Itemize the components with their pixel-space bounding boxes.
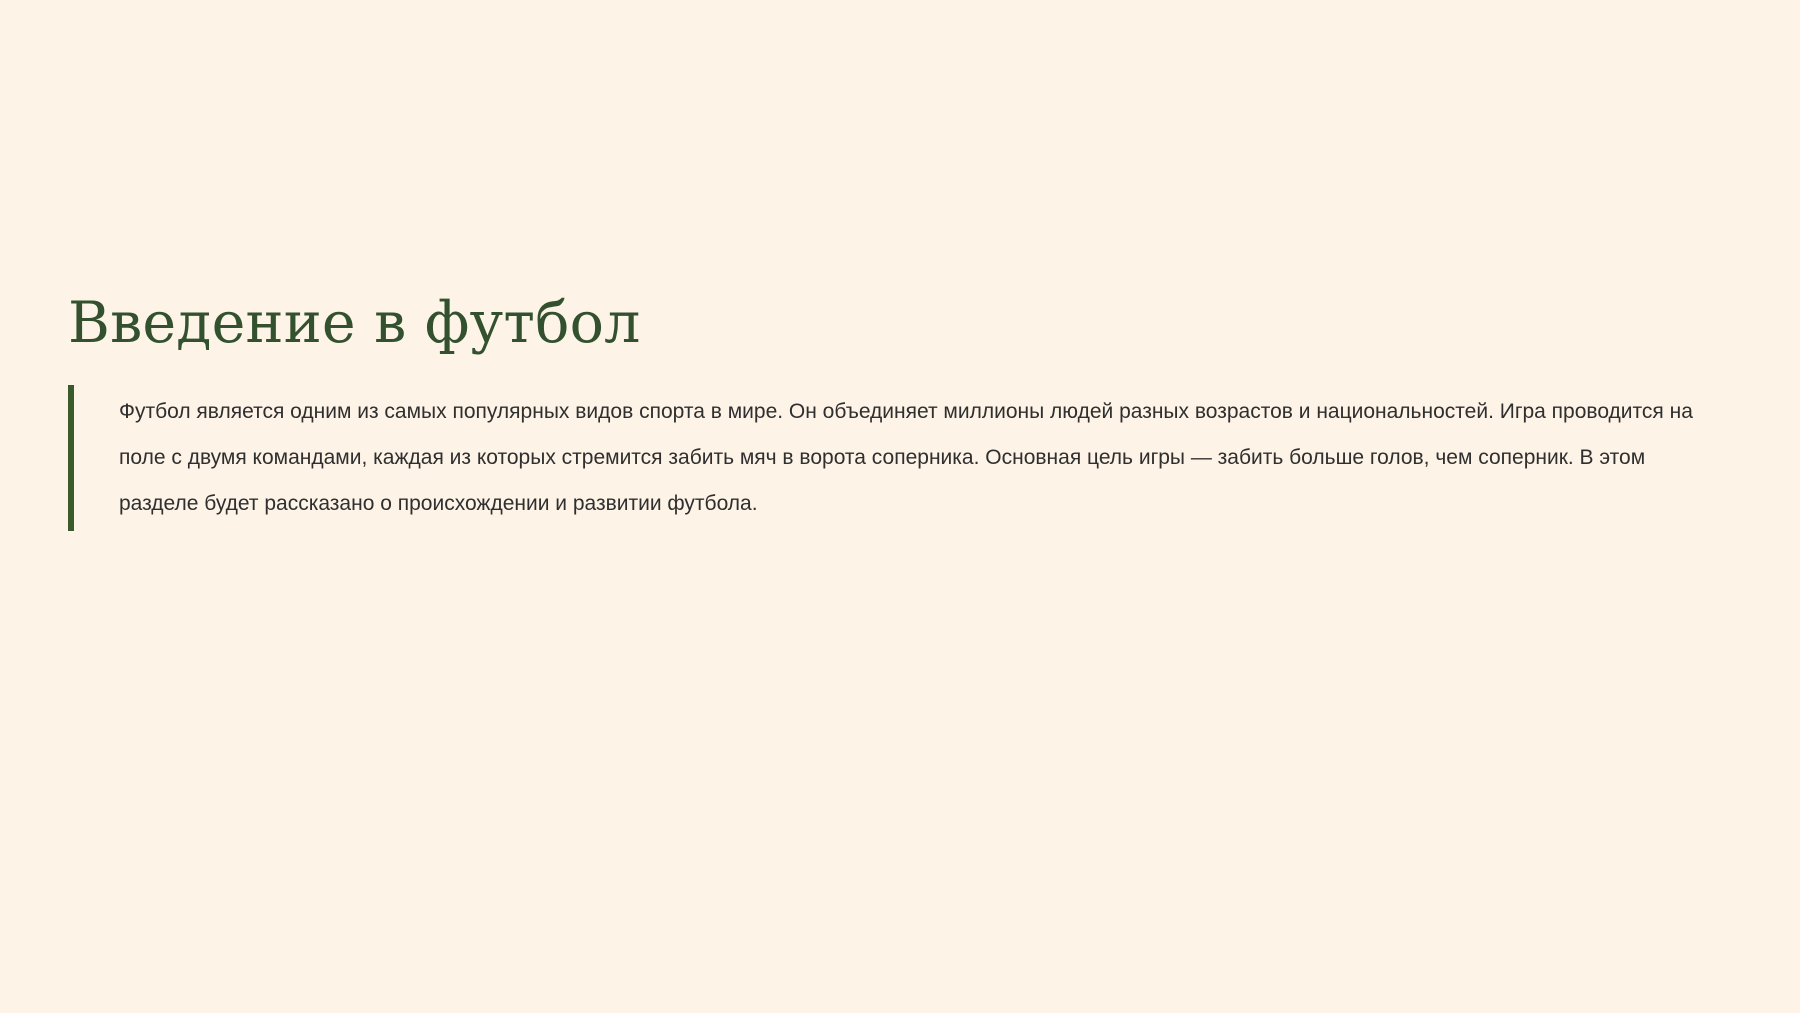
page-root: Введение в футбол Футбол является одним … <box>0 0 1800 1013</box>
page-title: Введение в футбол <box>68 290 1708 357</box>
intro-paragraph: Футбол является одним из самых популярны… <box>119 389 1708 527</box>
content-container: Введение в футбол Футбол является одним … <box>68 290 1708 531</box>
intro-blockquote: Футбол является одним из самых популярны… <box>68 385 1708 531</box>
